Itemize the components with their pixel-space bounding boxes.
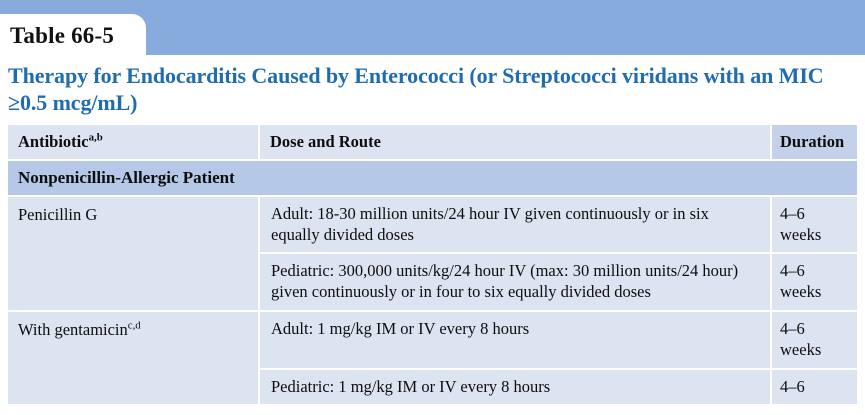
antibiotic-name-with-gentamicin: With gentamicinc,d — [8, 312, 260, 404]
table-title-container: Therapy for Endocarditis Caused by Enter… — [0, 55, 865, 123]
therapy-table: Antibiotica,b Dose and Route Duration No… — [8, 123, 857, 407]
column-header-dose-and-route: Dose and Route — [260, 125, 772, 160]
antibiotic-name-footnotes: c,d — [128, 319, 141, 331]
table-head: Antibiotica,b Dose and Route Duration — [8, 125, 857, 160]
dose-and-route-value: Pediatric: 300,000 units/kg/24 hour IV (… — [260, 254, 772, 310]
table-row: With gentamicinc,d Adult: 1 mg/kg IM or … — [8, 312, 857, 368]
column-header-antibiotic: Antibiotica,b — [8, 125, 260, 160]
table-row: Penicillin G Adult: 18-30 million units/… — [8, 197, 857, 253]
duration-value: 4–6 — [772, 370, 857, 405]
antibiotic-name-penicillin-g: Penicillin G — [8, 197, 260, 310]
column-header-antibiotic-label: Antibiotic — [18, 132, 89, 151]
column-header-antibiotic-footnotes: a,b — [89, 131, 103, 143]
dose-and-route-value: Pediatric: 1 mg/kg IM or IV every 8 hour… — [260, 370, 772, 405]
table-number-tab: Table 66-5 — [0, 14, 146, 55]
table-header-band: Table 66-5 — [0, 0, 865, 55]
table-container: Antibiotica,b Dose and Route Duration No… — [0, 123, 865, 407]
section-heading-row: Nonpenicillin-Allergic Patient — [8, 161, 857, 194]
table-body: Nonpenicillin-Allergic Patient Penicilli… — [8, 161, 857, 404]
table-title: Therapy for Endocarditis Caused by Enter… — [8, 63, 855, 117]
antibiotic-name-label: With gentamicin — [18, 320, 128, 339]
table-number-label: Table 66-5 — [10, 23, 114, 49]
table-header-row: Antibiotica,b Dose and Route Duration — [8, 125, 857, 160]
duration-value: 4–6 weeks — [772, 254, 857, 310]
dose-and-route-value: Adult: 1 mg/kg IM or IV every 8 hours — [260, 312, 772, 368]
duration-value: 4–6 weeks — [772, 197, 857, 253]
column-header-duration: Duration — [772, 125, 857, 160]
dose-and-route-value: Adult: 18-30 million units/24 hour IV gi… — [260, 197, 772, 253]
duration-value: 4–6 weeks — [772, 312, 857, 368]
section-heading-nonpenicillin-allergic-patient: Nonpenicillin-Allergic Patient — [8, 161, 857, 194]
